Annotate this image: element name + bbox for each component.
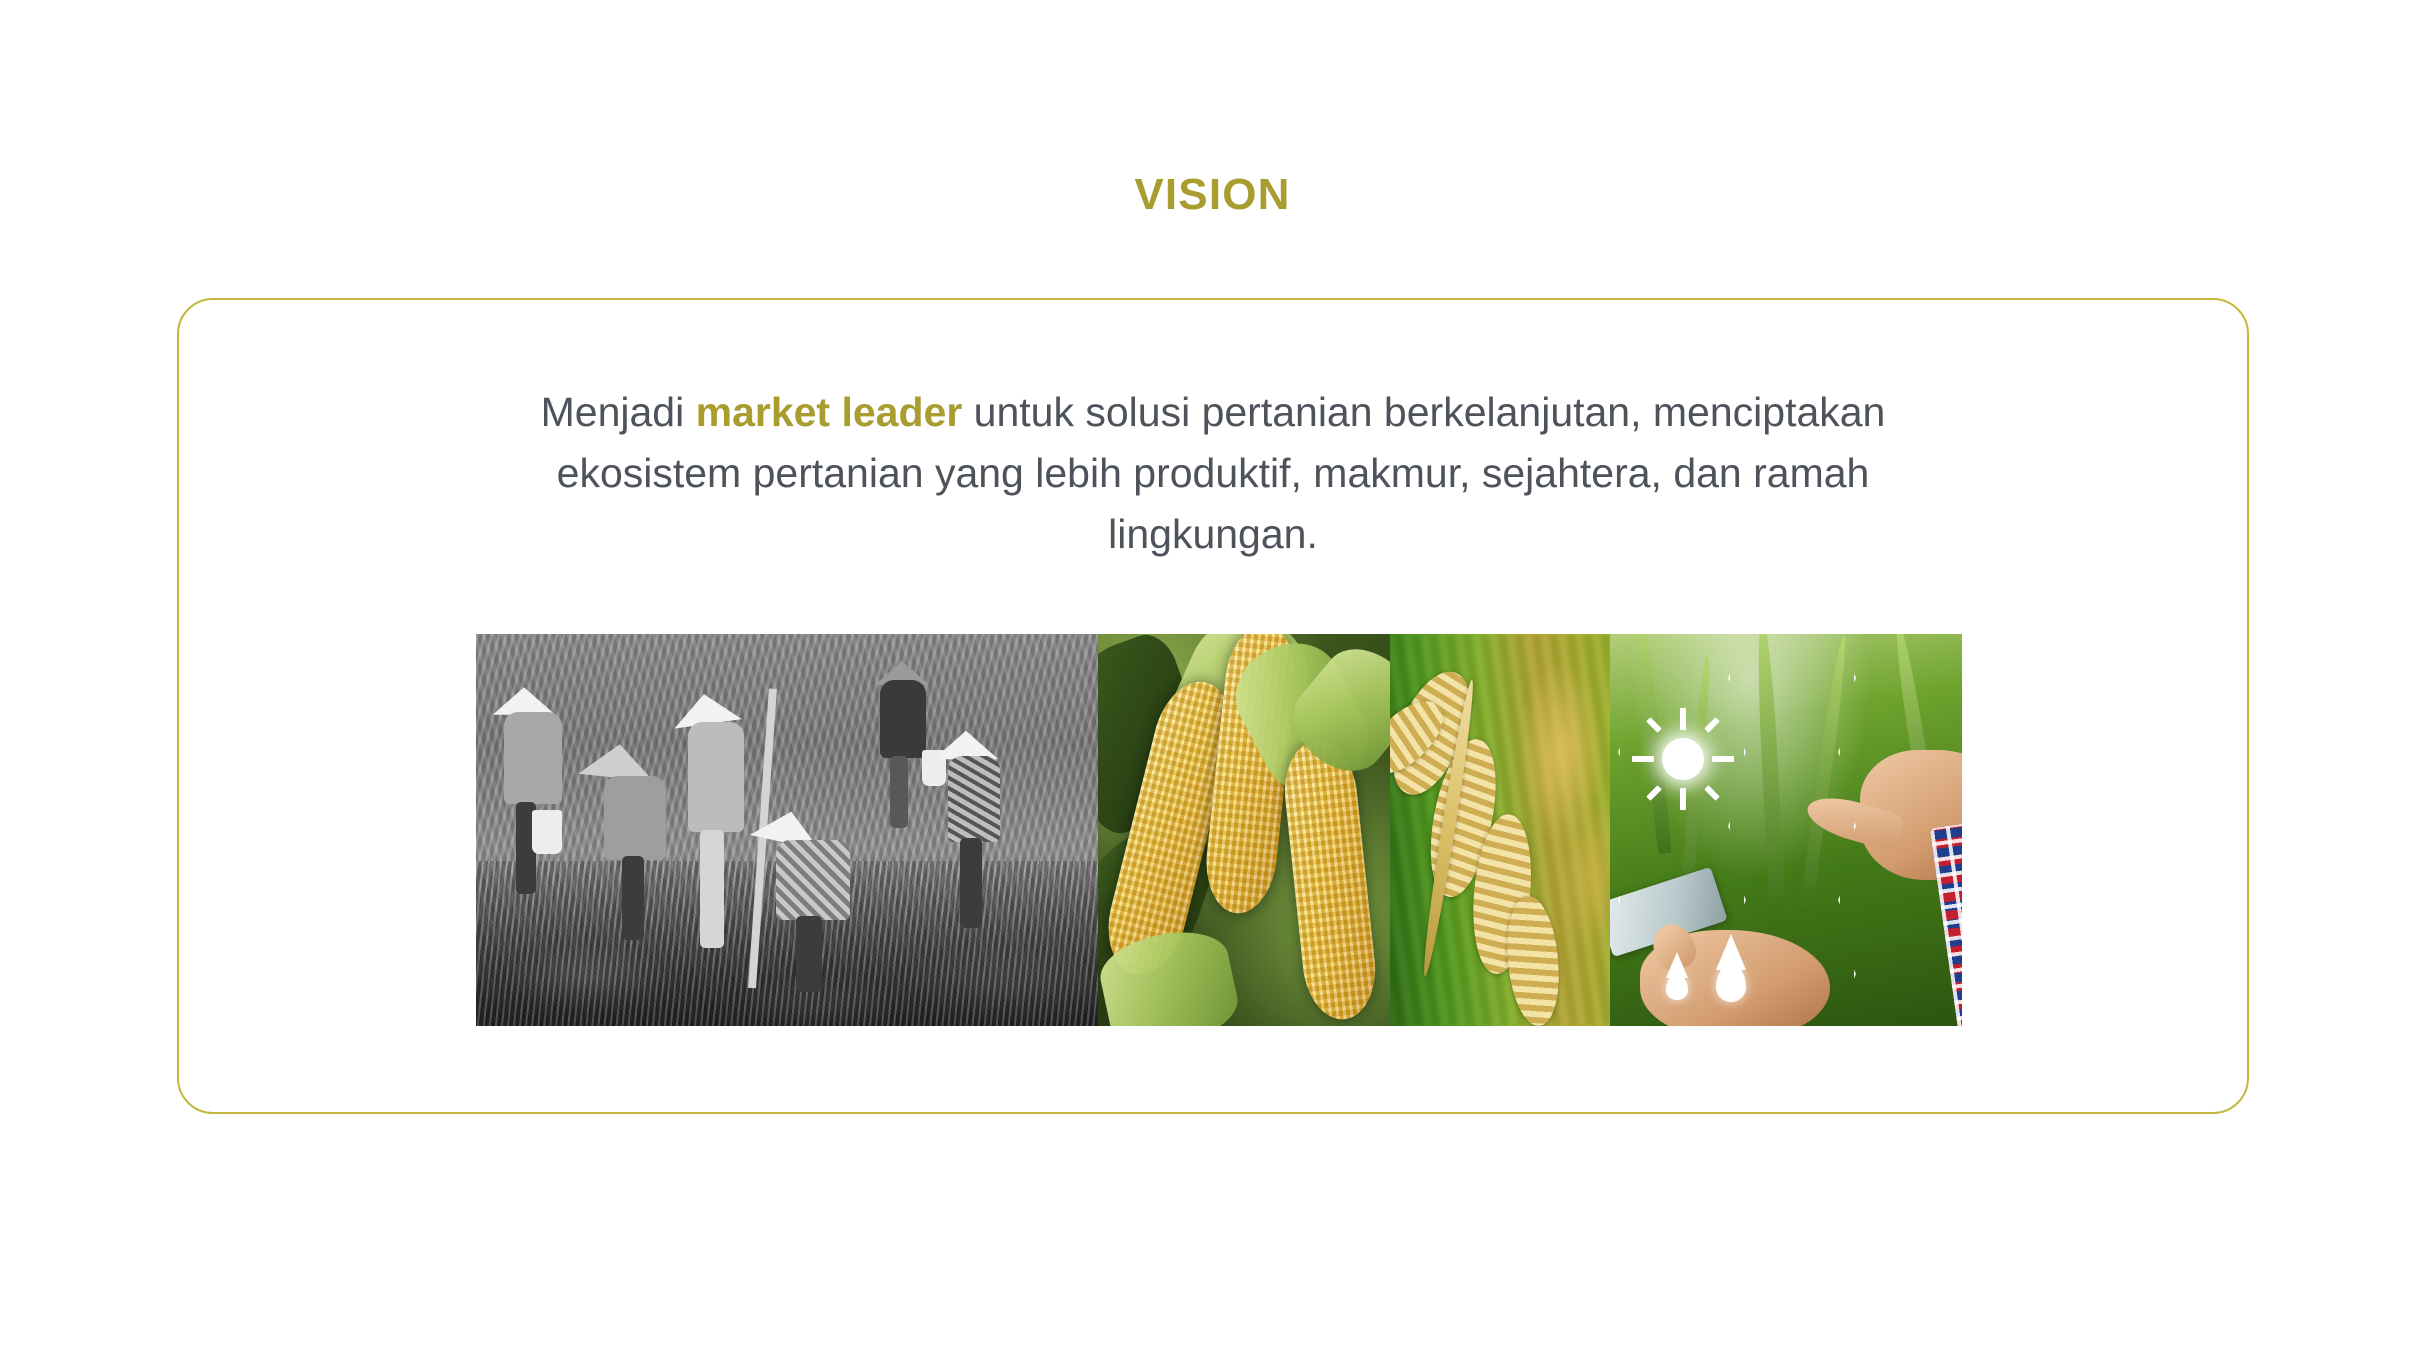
rice-paddy-photo xyxy=(1390,634,1610,1026)
vision-text-before: Menjadi xyxy=(541,389,696,435)
image-strip xyxy=(476,634,1962,1026)
farmer-legs xyxy=(890,756,908,828)
farmer-legs xyxy=(622,856,644,940)
vision-highlight: market leader xyxy=(696,389,963,435)
sun-ray xyxy=(1712,756,1734,762)
farmer-torso xyxy=(776,840,850,920)
corn-cobs-photo xyxy=(1098,634,1390,1026)
farmers-planting-field-photo xyxy=(476,634,1098,1026)
page-title: VISION xyxy=(0,170,2425,220)
vision-statement: Menjadi market leader untuk solusi perta… xyxy=(448,382,1978,565)
seed-bag xyxy=(532,810,562,854)
sun-ray xyxy=(1680,788,1686,810)
farmer-legs xyxy=(796,916,822,992)
conical-hat-icon xyxy=(493,687,556,715)
vision-card: Menjadi market leader untuk solusi perta… xyxy=(177,298,2249,1114)
farmer-torso xyxy=(604,776,666,860)
farmer-torso xyxy=(688,722,744,832)
farmer-torso xyxy=(504,712,562,804)
sun-ray xyxy=(1632,756,1654,762)
farmer-legs xyxy=(700,830,724,948)
farmer-torso xyxy=(880,680,926,758)
vision-slide: VISION Menjadi market leader untuk solus… xyxy=(0,0,2425,1359)
sun-icon xyxy=(1662,738,1704,780)
conical-hat-icon xyxy=(934,731,999,760)
farmer-legs xyxy=(960,838,982,928)
smart-agriculture-photo xyxy=(1610,634,1962,1026)
water-drop-icon xyxy=(1666,974,1688,1000)
sun-ray xyxy=(1680,708,1686,730)
farmer-torso xyxy=(948,756,1000,842)
